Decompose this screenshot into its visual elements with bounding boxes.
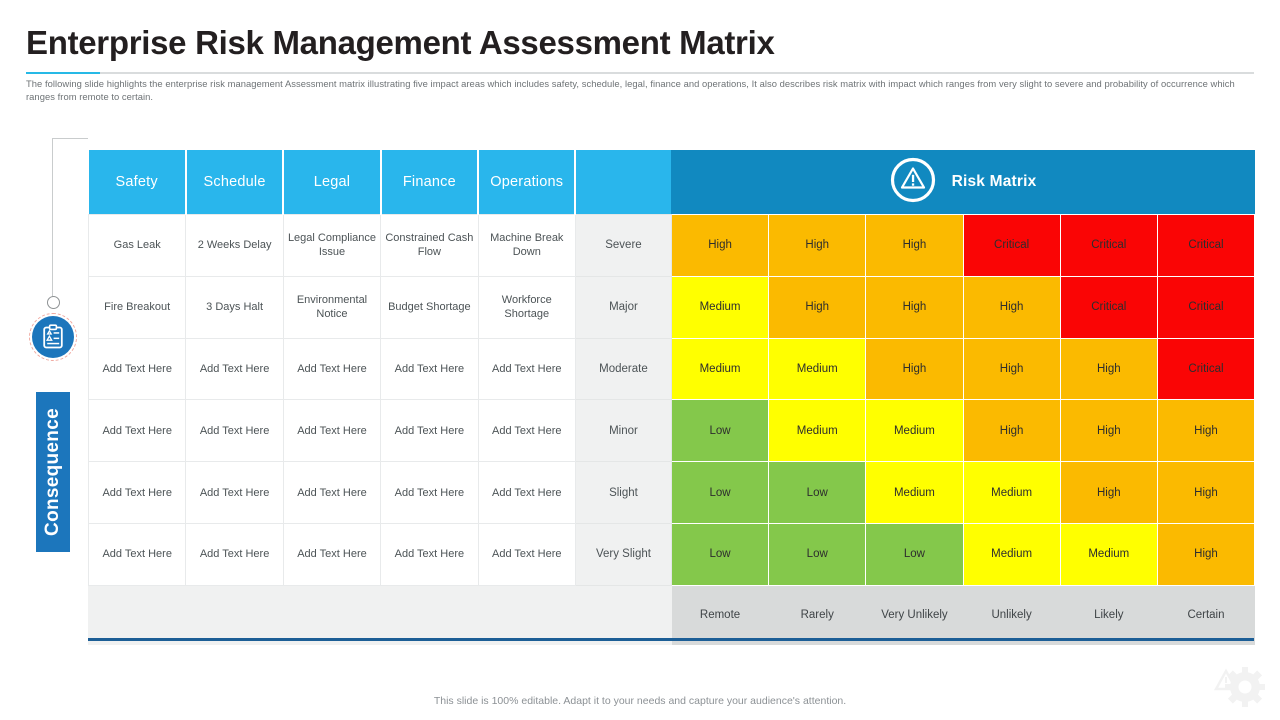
risk-cell-critical[interactable]: Critical [963,215,1060,277]
impact-cell-safety[interactable]: Add Text Here [89,523,186,585]
risk-cell-high[interactable]: High [963,400,1060,462]
consequence-axis-label: Consequence [42,408,64,536]
risk-cell-low[interactable]: Low [671,400,768,462]
impact-cell-schedule[interactable]: Add Text Here [186,523,283,585]
rail-connector-horizontal [52,138,88,139]
impact-cell-safety[interactable]: Fire Breakout [89,276,186,338]
page-title: Enterprise Risk Management Assessment Ma… [26,24,775,62]
impact-cell-legal[interactable]: Add Text Here [283,462,380,524]
impact-cell-operations[interactable]: Add Text Here [478,400,575,462]
risk-matrix-header: Risk Matrix [671,150,1254,215]
risk-cell-high[interactable]: High [963,276,1060,338]
risk-matrix-title: Risk Matrix [952,173,1037,191]
impact-cell-schedule[interactable]: Add Text Here [186,338,283,400]
title-divider-accent [26,72,100,74]
risk-cell-low[interactable]: Low [671,462,768,524]
risk-cell-medium[interactable]: Medium [769,338,866,400]
risk-cell-high[interactable]: High [866,276,963,338]
impact-cell-finance[interactable]: Add Text Here [381,338,478,400]
probability-label-remote: Remote [671,585,768,644]
risk-cell-medium[interactable]: Medium [671,338,768,400]
risk-cell-high[interactable]: High [1060,400,1157,462]
risk-cell-low[interactable]: Low [769,523,866,585]
matrix-row: Add Text HereAdd Text HereAdd Text HereA… [89,400,1255,462]
matrix-table: Safety Schedule Legal Finance Operations [88,150,1255,645]
risk-cell-high[interactable]: High [1060,338,1157,400]
matrix-row: Fire Breakout3 Days HaltEnvironmental No… [89,276,1255,338]
gear-warning-watermark [1204,657,1268,714]
risk-cell-medium[interactable]: Medium [963,523,1060,585]
matrix-row: Gas Leak2 Weeks DelayLegal Compliance Is… [89,215,1255,277]
impact-cell-legal[interactable]: Add Text Here [283,523,380,585]
matrix-header-row: Safety Schedule Legal Finance Operations [89,150,1255,215]
risk-cell-high[interactable]: High [1157,462,1254,524]
risk-cell-critical[interactable]: Critical [1060,215,1157,277]
risk-assessment-matrix: Safety Schedule Legal Finance Operations [88,150,1254,645]
risk-cell-medium[interactable]: Medium [671,276,768,338]
consequence-cell: Severe [575,215,671,277]
probability-label-likely: Likely [1060,585,1157,644]
matrix-footer: Remote Rarely Very Unlikely Unlikely Lik… [89,585,1255,644]
warning-triangle-icon [890,157,936,208]
risk-cell-low[interactable]: Low [769,462,866,524]
footer-blank-cell [89,585,672,644]
impact-cell-finance[interactable]: Add Text Here [381,400,478,462]
title-divider [26,72,1254,74]
matrix-bottom-rule [88,638,1254,641]
risk-cell-high[interactable]: High [769,215,866,277]
consequence-cell: Major [575,276,671,338]
impact-cell-finance[interactable]: Add Text Here [381,462,478,524]
risk-cell-medium[interactable]: Medium [963,462,1060,524]
rail-dot-marker [47,296,60,309]
impact-cell-schedule[interactable]: Add Text Here [186,462,283,524]
matrix-row: Add Text HereAdd Text HereAdd Text HereA… [89,338,1255,400]
risk-cell-low[interactable]: Low [671,523,768,585]
risk-cell-high[interactable]: High [866,215,963,277]
clipboard-risk-icon [32,316,74,358]
impact-cell-finance[interactable]: Add Text Here [381,523,478,585]
matrix-row: Add Text HereAdd Text HereAdd Text HereA… [89,462,1255,524]
impact-cell-operations[interactable]: Add Text Here [478,338,575,400]
risk-cell-high[interactable]: High [866,338,963,400]
probability-label-certain: Certain [1157,585,1254,644]
impact-cell-schedule[interactable]: 2 Weeks Delay [186,215,283,277]
slide-canvas: Enterprise Risk Management Assessment Ma… [0,0,1280,720]
impact-cell-legal[interactable]: Add Text Here [283,338,380,400]
risk-cell-high[interactable]: High [1157,523,1254,585]
impact-cell-legal[interactable]: Add Text Here [283,400,380,462]
impact-cell-safety[interactable]: Add Text Here [89,462,186,524]
column-header-consequence [575,150,671,215]
impact-cell-safety[interactable]: Add Text Here [89,338,186,400]
impact-cell-safety[interactable]: Gas Leak [89,215,186,277]
risk-cell-high[interactable]: High [769,276,866,338]
matrix-body: Gas Leak2 Weeks DelayLegal Compliance Is… [89,215,1255,586]
risk-cell-medium[interactable]: Medium [769,400,866,462]
column-header-operations: Operations [478,150,575,215]
column-header-legal: Legal [283,150,380,215]
impact-cell-safety[interactable]: Add Text Here [89,400,186,462]
risk-cell-critical[interactable]: Critical [1157,215,1254,277]
probability-label-unlikely: Unlikely [963,585,1060,644]
risk-cell-low[interactable]: Low [866,523,963,585]
consequence-axis-bar: Consequence [36,392,70,552]
risk-cell-medium[interactable]: Medium [866,400,963,462]
consequence-cell: Minor [575,400,671,462]
consequence-cell: Moderate [575,338,671,400]
risk-cell-medium[interactable]: Medium [1060,523,1157,585]
impact-cell-operations[interactable]: Workforce Shortage [478,276,575,338]
probability-label-very-unlikely: Very Unlikely [866,585,963,644]
risk-cell-medium[interactable]: Medium [866,462,963,524]
column-header-schedule: Schedule [186,150,283,215]
impact-cell-operations[interactable]: Machine Break Down [478,215,575,277]
risk-cell-high[interactable]: High [671,215,768,277]
risk-cell-critical[interactable]: Critical [1157,338,1254,400]
impact-cell-finance[interactable]: Constrained Cash Flow [381,215,478,277]
rail-connector-vertical [52,138,53,298]
risk-cell-high[interactable]: High [963,338,1060,400]
risk-cell-critical[interactable]: Critical [1060,276,1157,338]
matrix-row: Add Text HereAdd Text HereAdd Text HereA… [89,523,1255,585]
impact-cell-legal[interactable]: Environmental Notice [283,276,380,338]
impact-cell-operations[interactable]: Add Text Here [478,523,575,585]
impact-cell-legal[interactable]: Legal Compliance Issue [283,215,380,277]
risk-cell-high[interactable]: High [1060,462,1157,524]
risk-cell-high[interactable]: High [1157,400,1254,462]
page-subtitle: The following slide highlights the enter… [26,78,1258,103]
risk-cell-critical[interactable]: Critical [1157,276,1254,338]
impact-cell-schedule[interactable]: Add Text Here [186,400,283,462]
footer-note: This slide is 100% editable. Adapt it to… [0,695,1280,707]
column-header-safety: Safety [89,150,186,215]
impact-cell-operations[interactable]: Add Text Here [478,462,575,524]
consequence-cell: Slight [575,462,671,524]
probability-row: Remote Rarely Very Unlikely Unlikely Lik… [89,585,1255,644]
column-header-finance: Finance [381,150,478,215]
consequence-cell: Very Slight [575,523,671,585]
probability-label-rarely: Rarely [769,585,866,644]
impact-cell-schedule[interactable]: 3 Days Halt [186,276,283,338]
impact-cell-finance[interactable]: Budget Shortage [381,276,478,338]
